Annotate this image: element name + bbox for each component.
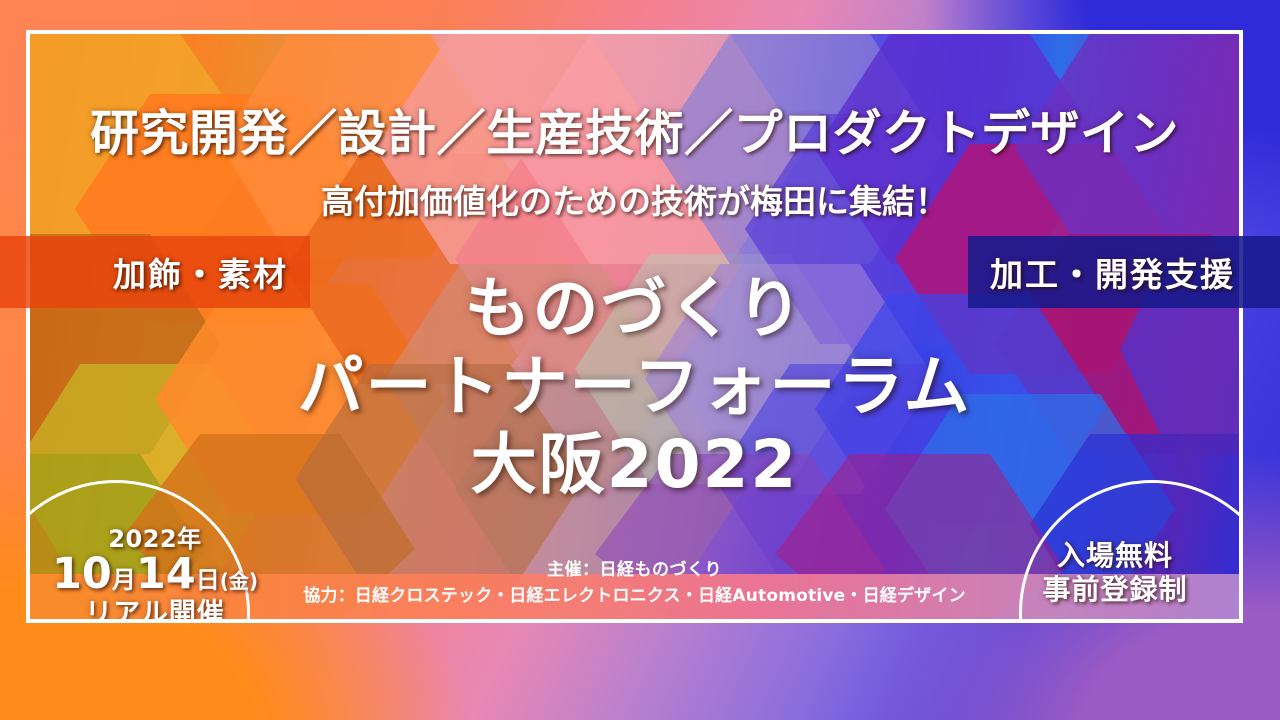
footer-cooperation: 協力：日経クロステック・日経エレクトロニクス・日経Automotive・日経デザ…: [30, 584, 1239, 610]
badge-right: 加工・開発支援: [968, 236, 1280, 308]
poster-canvas: 研究開発／設計／生産技術／プロダクトデザイン 高付加価値化のための技術が梅田に集…: [0, 0, 1280, 720]
badge-left-label: 加飾・素材: [113, 248, 288, 296]
footer-organizer: 主催：日経ものづくり: [30, 558, 1239, 584]
headline-text: 研究開発／設計／生産技術／プロダクトデザイン: [30, 108, 1239, 159]
footer-credits: 主催：日経ものづくり 協力：日経クロステック・日経エレクトロニクス・日経Auto…: [30, 558, 1239, 609]
poster-frame: 研究開発／設計／生産技術／プロダクトデザイン 高付加価値化のための技術が梅田に集…: [26, 30, 1243, 623]
subheadline-text: 高付加価値化のための技術が梅田に集結！: [30, 184, 1239, 220]
title-line-2: パートナーフォーラム: [30, 348, 1239, 426]
badge-right-label: 加工・開発支援: [990, 248, 1235, 296]
badge-left: 加飾・素材: [0, 236, 310, 308]
title-line-3: 大阪2022: [30, 426, 1239, 504]
